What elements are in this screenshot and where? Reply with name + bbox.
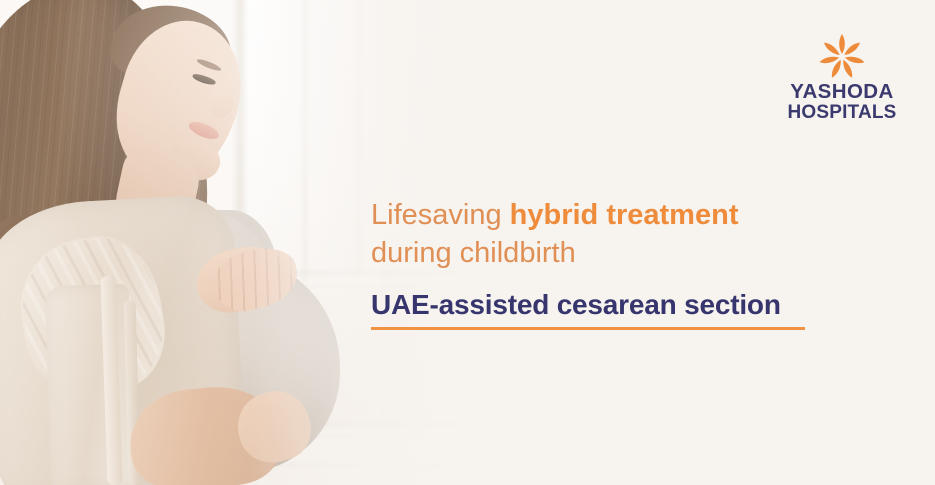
yashoda-hospitals-logo[interactable]: YASHODA HOSPITALS [780, 32, 904, 122]
logo-line-1: YASHODA [780, 82, 904, 103]
headline-block: Lifesaving hybrid treatment during child… [371, 196, 831, 330]
headline-line-1: Lifesaving hybrid treatment [371, 196, 831, 234]
headline-line-1-normal: Lifesaving [371, 199, 510, 231]
yashoda-flower-icon [814, 32, 870, 82]
logo-line-2: HOSPITALS [780, 103, 904, 122]
logo-wordmark: YASHODA HOSPITALS [780, 82, 904, 122]
headline-line-3: UAE-assisted cesarean section [371, 288, 831, 322]
headline-underline-rule [371, 327, 805, 330]
headline-line-2: during childbirth [371, 234, 831, 272]
headline-line-1-bold: hybrid treatment [510, 199, 739, 231]
promotional-banner: YASHODA HOSPITALS Lifesaving hybrid trea… [0, 0, 935, 485]
